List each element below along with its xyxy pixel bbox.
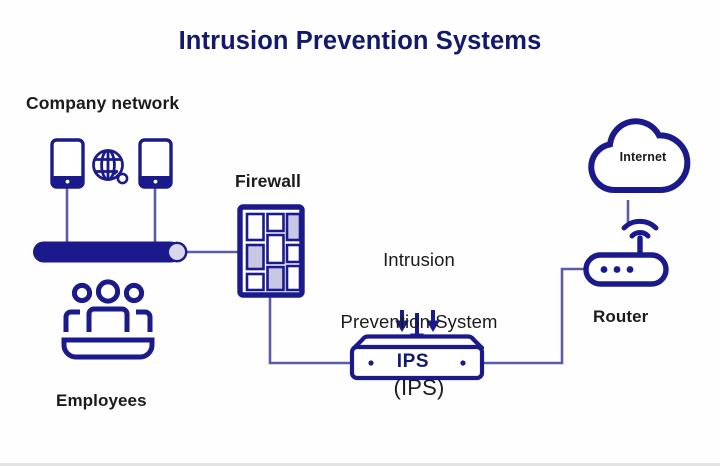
firewall-brick [268,267,284,290]
label-ips-caption-line2: Prevention System [330,311,508,334]
router-led [614,266,621,273]
tablet-left-icon [52,140,83,187]
router-led [601,266,608,273]
router-led [627,266,634,273]
label-router: Router [593,307,648,328]
label-ips-caption-line1: Intrusion [330,249,508,272]
label-internet: Internet [607,150,679,165]
firewall-brick [287,266,300,290]
globe-satellite-circle [118,174,127,183]
page-title: Intrusion Prevention Systems [0,26,720,57]
diagram-canvas: Intrusion Prevention Systems Company net… [0,0,720,466]
firewall-brick [268,235,284,263]
label-ips-caption: Intrusion Prevention System (IPS) [330,210,508,441]
router-icon [586,221,666,284]
employees-icon [64,282,152,357]
firewall-brick [268,214,284,231]
label-firewall: Firewall [235,171,301,192]
firewall-icon [240,207,302,295]
network-bus-bar [33,242,186,263]
label-company-network: Company network [26,93,179,114]
firewall-brick [247,245,264,269]
label-ips-device: IPS [383,350,443,373]
globe-node-dot [112,170,117,175]
firewall-brick [287,214,300,240]
label-ips-caption-line3: (IPS) [330,375,508,402]
tablet-right-icon [140,140,171,187]
wifi-signal-icon [624,221,656,236]
firewall-brick [247,214,264,240]
firewall-brick [287,245,300,262]
label-employees: Employees [56,391,147,412]
firewall-brick [247,274,264,290]
